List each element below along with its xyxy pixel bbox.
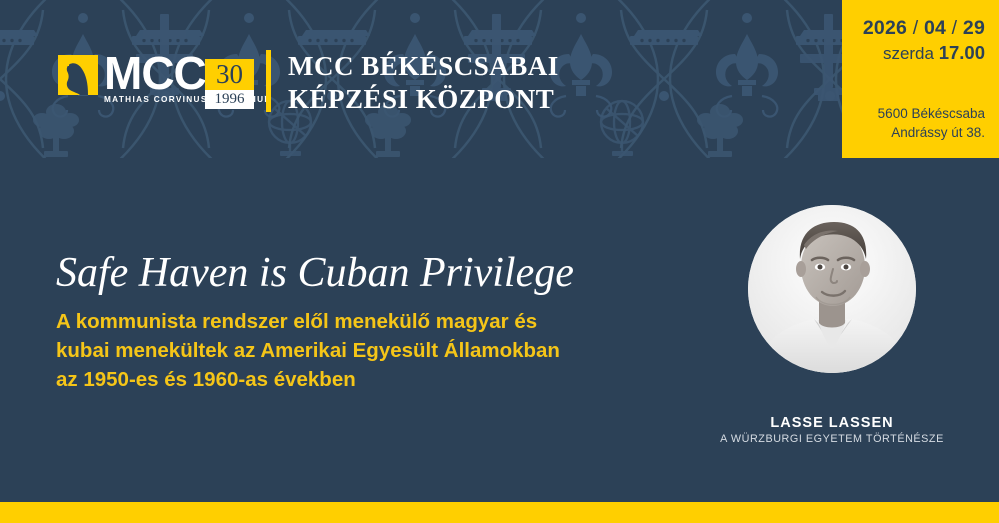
event-subtitle: A kommunista rendszer elől menekülő magy… xyxy=(56,307,560,394)
center-title-line-1: MCC BÉKÉSCSABAI xyxy=(288,50,559,83)
date-day: 29 xyxy=(963,17,985,39)
footer-accent-strip xyxy=(0,502,999,523)
event-hour: 17.00 xyxy=(939,42,985,63)
badge-number: 30 xyxy=(205,59,254,90)
badge-year: 1996 xyxy=(205,90,254,109)
header-band: MCC MATHIAS CORVINUS COLLEGIUM 30 1996 M… xyxy=(0,0,999,158)
speaker-name: LASSE LASSEN xyxy=(702,415,962,431)
date-block: 2026 / 04 / 29 szerda 17.00 5600 Békéscs… xyxy=(842,0,999,158)
address-line-1: 5600 Békéscsaba xyxy=(878,104,985,123)
date-month: 04 xyxy=(924,17,946,39)
speaker-portrait xyxy=(748,205,916,373)
event-subtitle-line-1: A kommunista rendszer elől menekülő magy… xyxy=(56,307,560,336)
event-poster: MCC MATHIAS CORVINUS COLLEGIUM 30 1996 M… xyxy=(0,0,999,523)
corvinus-profile-icon xyxy=(58,55,98,95)
address-line-2: Andrássy út 38. xyxy=(878,123,985,142)
date-year: 2026 xyxy=(863,17,907,39)
event-date: 2026 / 04 / 29 xyxy=(852,16,985,41)
event-title: Safe Haven is Cuban Privilege xyxy=(56,249,574,297)
event-subtitle-line-2: kubai menekültek az Amerikai Egyesült Ál… xyxy=(56,336,560,365)
speaker-role: A WÜRZBURGI EGYETEM TÖRTÉNÉSZE xyxy=(702,433,962,445)
event-weekday: szerda xyxy=(883,44,934,63)
date-separator-1: / xyxy=(913,17,919,39)
date-separator-2: / xyxy=(952,17,958,39)
venue-address: 5600 Békéscsaba Andrássy út 38. xyxy=(878,104,985,142)
center-title: MCC BÉKÉSCSABAI KÉPZÉSI KÖZPONT xyxy=(288,50,559,116)
anniversary-badge: 30 1996 xyxy=(205,59,254,109)
vertical-divider xyxy=(266,50,271,112)
event-time: szerda 17.00 xyxy=(852,41,985,65)
event-subtitle-line-3: az 1950-es és 1960-as években xyxy=(56,365,560,394)
center-title-line-2: KÉPZÉSI KÖZPONT xyxy=(288,83,559,116)
